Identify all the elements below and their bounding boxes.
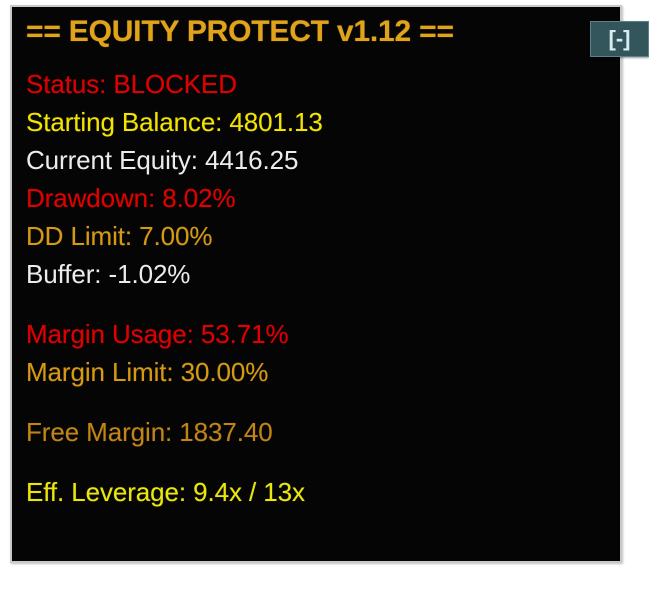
stat-row: Free Margin: 1837.40 [26,413,606,451]
stat-row: Status: BLOCKED [26,65,606,103]
stat-row: Starting Balance: 4801.13 [26,103,606,141]
stat-row: Margin Limit: 30.00% [26,353,606,391]
panel-title-row: == EQUITY PROTECT v1.12 == [12,7,620,55]
stat-row: Drawdown: 8.02% [26,179,606,217]
screen-root: == EQUITY PROTECT v1.12 == Status: BLOCK… [0,0,649,600]
stat-row: Buffer: -1.02% [26,255,606,293]
stat-row: Eff. Leverage: 9.4x / 13x [26,473,606,511]
collapse-panel-button[interactable]: [-] [590,21,649,57]
page-title: == EQUITY PROTECT v1.12 == [26,15,454,49]
stats-list: Status: BLOCKEDStarting Balance: 4801.13… [26,65,606,511]
equity-protect-panel: == EQUITY PROTECT v1.12 == Status: BLOCK… [10,5,622,563]
stat-row: DD Limit: 7.00% [26,217,606,255]
stat-row: Current Equity: 4416.25 [26,141,606,179]
stat-row: Margin Usage: 53.71% [26,315,606,353]
